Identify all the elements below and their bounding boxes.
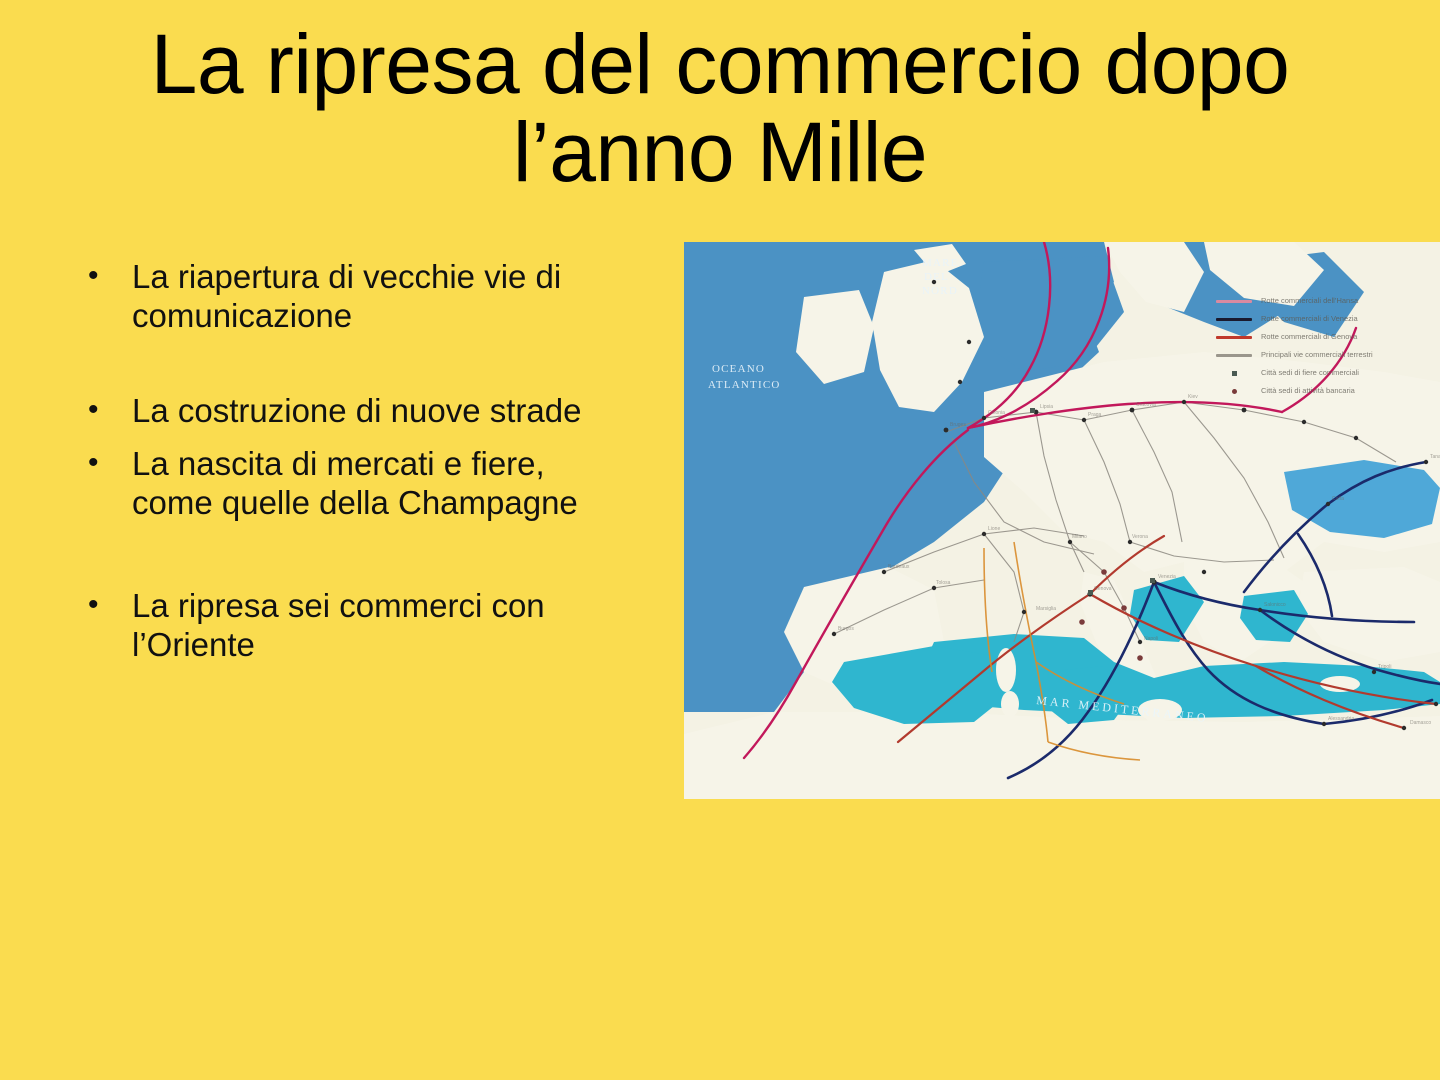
svg-text:OCEANO: OCEANO	[712, 363, 765, 375]
svg-text:Napoli: Napoli	[1144, 636, 1158, 642]
svg-text:MARE: MARE	[922, 257, 959, 269]
svg-text:Genova: Genova	[1094, 586, 1112, 592]
svg-text:Venezia: Venezia	[1158, 574, 1176, 580]
legend-row-bank-cities: Città sedi di attività bancaria	[1211, 382, 1436, 400]
svg-text:Bordeaux: Bordeaux	[888, 564, 910, 570]
svg-text:Lione: Lione	[988, 526, 1000, 532]
legend-label: Principali vie commerciali terrestri	[1257, 351, 1436, 359]
route-line-icon	[1211, 354, 1257, 357]
legend-label: Rotte commerciali di Genova	[1257, 333, 1436, 341]
legend-label: Città sedi di attività bancaria	[1257, 387, 1436, 395]
spacer	[70, 336, 690, 392]
legend-label: Rotte commerciali dell’Hansa	[1257, 297, 1436, 305]
svg-text:Caffa: Caffa	[1332, 496, 1344, 502]
svg-text:NORD: NORD	[922, 285, 958, 297]
svg-text:Burgos: Burgos	[838, 626, 854, 632]
legend-label: Rotte commerciali di Venezia	[1257, 315, 1436, 323]
list-item: • La nascita di mercati e fiere, come qu…	[70, 445, 690, 523]
legend-row-fair-cities: Città sedi di fiere commerciali	[1211, 364, 1436, 382]
svg-text:DEL: DEL	[924, 271, 949, 283]
spacer	[70, 523, 690, 587]
list-item: • La riapertura di vecchie vie di comuni…	[70, 258, 690, 336]
legend-row-venezia: Rotte commerciali di Venezia	[1211, 310, 1436, 328]
svg-text:Marsiglia: Marsiglia	[1036, 606, 1056, 612]
svg-text:Colonia: Colonia	[988, 410, 1005, 416]
bullet-list: • La riapertura di vecchie vie di comuni…	[70, 258, 690, 665]
list-item: • La ripresa sei commerci con l’Oriente	[70, 587, 690, 665]
spacer	[70, 431, 690, 445]
legend-row-genova: Rotte commerciali di Genova	[1211, 328, 1436, 346]
square-marker-icon	[1211, 371, 1257, 376]
legend-row-hansa: Rotte commerciali dell’Hansa	[1211, 292, 1436, 310]
svg-text:Kiev: Kiev	[1188, 394, 1198, 400]
svg-text:Salonicco: Salonicco	[1264, 602, 1286, 608]
bullet-icon: •	[70, 258, 132, 293]
svg-text:Praga: Praga	[1088, 412, 1102, 418]
dot-marker-icon	[1211, 389, 1257, 394]
list-item-label: La costruzione di nuove strade	[132, 392, 690, 431]
svg-text:Cracovia: Cracovia	[1136, 402, 1156, 408]
svg-text:Lipsia: Lipsia	[1040, 404, 1053, 410]
bullet-icon: •	[70, 445, 132, 480]
trade-routes-map-image: OCEANO ATLANTICO MARE DEL NORD MAR MEDIT…	[684, 242, 1440, 799]
svg-text:Tripoli: Tripoli	[1378, 664, 1391, 670]
bullet-icon: •	[70, 587, 132, 622]
route-line-icon	[1211, 300, 1257, 303]
route-line-icon	[1211, 336, 1257, 339]
legend-row-land-routes: Principali vie commerciali terrestri	[1211, 346, 1436, 364]
list-item: • La costruzione di nuove strade	[70, 392, 690, 431]
svg-text:Milano: Milano	[1072, 534, 1087, 540]
map-legend: Rotte commerciali dell’Hansa Rotte comme…	[1211, 292, 1436, 400]
svg-text:Tana: Tana	[1430, 454, 1440, 460]
presentation-slide: La ripresa del commercio dopo l’anno Mil…	[0, 0, 1440, 1080]
slide-title: La ripresa del commercio dopo l’anno Mil…	[60, 20, 1380, 196]
list-item-label: La nascita di mercati e fiere, come quel…	[132, 445, 690, 523]
legend-label: Città sedi di fiere commerciali	[1257, 369, 1436, 377]
svg-text:Bruges: Bruges	[950, 422, 966, 428]
svg-text:Verona: Verona	[1132, 534, 1148, 540]
list-item-label: La ripresa sei commerci con l’Oriente	[132, 587, 690, 665]
bullet-icon: •	[70, 392, 132, 427]
svg-text:ATLANTICO: ATLANTICO	[708, 379, 781, 391]
svg-text:Damasco: Damasco	[1410, 720, 1431, 726]
svg-text:Alessandria: Alessandria	[1328, 716, 1354, 722]
list-item-label: La riapertura di vecchie vie di comunica…	[132, 258, 690, 336]
route-line-icon	[1211, 318, 1257, 321]
svg-text:Tolosa: Tolosa	[936, 580, 951, 586]
